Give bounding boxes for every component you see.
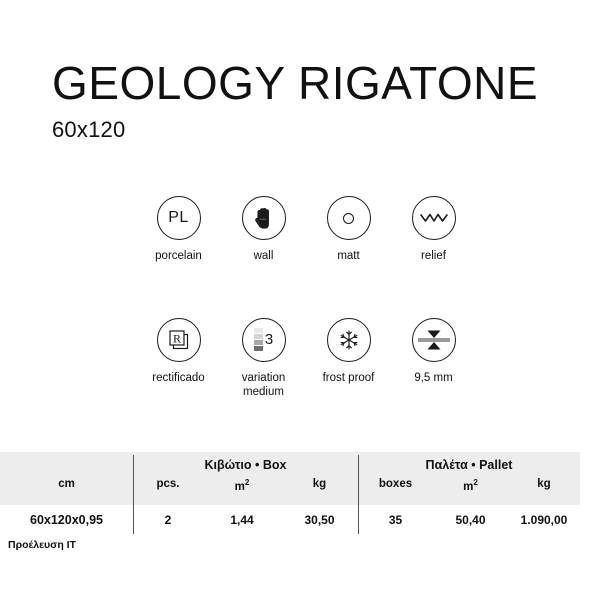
table-unit-header-row: cm pcs. m2 kg boxes m2 kg xyxy=(0,478,580,505)
column-header-cm: cm xyxy=(0,478,133,490)
rectified-glyph: R xyxy=(166,327,192,353)
variation-bar-1 xyxy=(254,328,263,333)
hand-glyph xyxy=(253,206,275,230)
feature-matt: matt xyxy=(306,196,391,264)
product-size-subtitle: 60x120 xyxy=(52,117,538,143)
feature-row-2: R rectificado 3 variation medium xyxy=(136,318,476,400)
feature-thickness: 9,5 mm xyxy=(391,318,476,400)
feature-row-1: PL porcelain wall matt xyxy=(136,196,476,264)
origin-note: Προέλευση IT xyxy=(8,539,76,551)
feature-icon-grid: PL porcelain wall matt xyxy=(136,196,476,400)
specification-table: Κιβώτιο • Box Παλέτα • Pallet cm pcs. m2… xyxy=(0,452,580,534)
cell-box-m2: 1,44 xyxy=(203,513,281,527)
thickness-glyph xyxy=(417,327,451,353)
feature-thickness-label: 9,5 mm xyxy=(414,371,452,386)
column-header-box-m2: m2 xyxy=(203,478,281,493)
feature-rectified: R rectificado xyxy=(136,318,221,400)
column-header-pallet-kg: kg xyxy=(508,478,580,490)
frost-proof-snowflake-icon xyxy=(327,318,371,362)
cell-box-pcs: 2 xyxy=(133,513,203,527)
variation-bar-2 xyxy=(254,334,263,339)
variation-level-icon: 3 xyxy=(242,318,286,362)
variation-bar-4 xyxy=(254,346,263,351)
svg-text:R: R xyxy=(172,331,180,345)
table-divider-box xyxy=(133,455,134,534)
cell-pallet-boxes: 35 xyxy=(358,513,433,527)
feature-variation: 3 variation medium xyxy=(221,318,306,400)
feature-wall: wall xyxy=(221,196,306,264)
feature-matt-label: matt xyxy=(337,249,359,264)
hand-wall-icon xyxy=(242,196,286,240)
feature-porcelain-label: porcelain xyxy=(155,249,202,264)
title-block: GEOLOGY RIGATONE 60x120 xyxy=(52,60,538,143)
table-divider-pallet xyxy=(358,455,359,534)
page-title: GEOLOGY RIGATONE xyxy=(52,60,538,106)
thickness-icon xyxy=(412,318,456,362)
feature-porcelain: PL porcelain xyxy=(136,196,221,264)
feature-rectified-label: rectificado xyxy=(152,371,204,386)
cell-pallet-m2: 50,40 xyxy=(433,513,508,527)
relief-zigzag-glyph xyxy=(419,210,449,226)
variation-glyph: 3 xyxy=(254,328,273,351)
matt-ring-glyph xyxy=(343,213,354,224)
column-header-box-kg: kg xyxy=(281,478,358,490)
table-group-header-row: Κιβώτιο • Box Παλέτα • Pallet xyxy=(0,452,580,478)
column-header-pallet-m2: m2 xyxy=(433,478,508,493)
porcelain-pl-icon: PL xyxy=(157,196,201,240)
variation-level-number: 3 xyxy=(265,332,273,347)
porcelain-pl-glyph-text: PL xyxy=(168,210,189,226)
group-header-box: Κιβώτιο • Box xyxy=(133,458,358,472)
table-header: Κιβώτιο • Box Παλέτα • Pallet cm pcs. m2… xyxy=(0,452,580,505)
variation-bar-3 xyxy=(254,340,263,345)
matt-finish-icon xyxy=(327,196,371,240)
cell-box-kg: 30,50 xyxy=(281,513,358,527)
variation-bars xyxy=(254,328,263,351)
group-header-pallet: Παλέτα • Pallet xyxy=(358,458,580,472)
feature-relief-label: relief xyxy=(421,249,446,264)
relief-wave-icon xyxy=(412,196,456,240)
cell-dimensions: 60x120x0,95 xyxy=(0,513,133,527)
feature-wall-label: wall xyxy=(254,249,274,264)
feature-relief: relief xyxy=(391,196,476,264)
rectified-r-icon: R xyxy=(157,318,201,362)
feature-frost-proof-label: frost proof xyxy=(323,371,375,386)
table-row: 60x120x0,95 2 1,44 30,50 35 50,40 1.090,… xyxy=(0,505,580,534)
feature-variation-label: variation medium xyxy=(242,371,285,400)
column-header-pcs: pcs. xyxy=(133,478,203,490)
snowflake-glyph xyxy=(337,328,361,352)
cell-pallet-kg: 1.090,00 xyxy=(508,513,580,527)
column-header-boxes: boxes xyxy=(358,478,433,490)
feature-frost-proof: frost proof xyxy=(306,318,391,400)
